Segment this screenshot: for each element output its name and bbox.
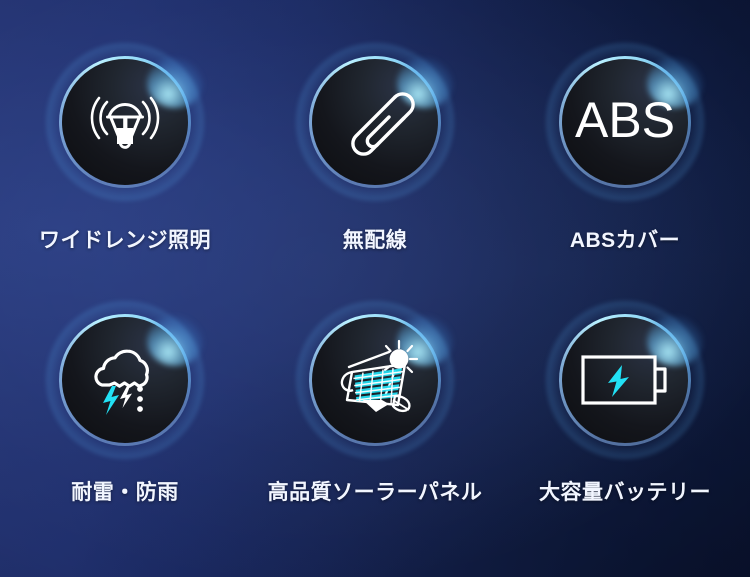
feature-badge (59, 314, 191, 446)
feature-item-large-capacity-battery: 大容量バッテリー (500, 289, 750, 577)
feature-item-lightning-rain-proof: 耐雷・防雨 (0, 289, 250, 577)
feature-item-high-quality-solar-panel: 高品質ソーラーパネル (250, 289, 500, 577)
feature-label: ワイドレンジ照明 (39, 224, 211, 254)
feature-badge (559, 314, 691, 446)
paperclip-icon (334, 81, 416, 163)
feature-badge (309, 314, 441, 446)
feature-item-abs-cover: ABS ABSカバー (500, 0, 750, 289)
feature-label: 高品質ソーラーパネル (268, 476, 483, 506)
solar-panel-sun-icon (329, 334, 421, 426)
feature-badge: ABS (559, 56, 691, 188)
feature-label: 耐雷・防雨 (71, 476, 179, 506)
feature-item-wireless: 無配線 (250, 0, 500, 289)
feature-label: 無配線 (343, 224, 408, 254)
lightbulb-radiating-icon (79, 76, 171, 168)
feature-item-wide-range-lighting: ワイドレンジ照明 (0, 0, 250, 289)
abs-text-icon: ABS (565, 87, 685, 157)
feature-label: ABSカバー (570, 224, 680, 254)
abs-label: ABS (575, 92, 675, 148)
storm-cloud-lightning-rain-icon (82, 337, 168, 423)
feature-badge (309, 56, 441, 188)
battery-bolt-icon (577, 347, 673, 413)
feature-badge (59, 56, 191, 188)
feature-grid: ワイドレンジ照明 無配線 (0, 0, 750, 577)
feature-highlight-banner: ワイドレンジ照明 無配線 (0, 0, 750, 577)
feature-label: 大容量バッテリー (539, 476, 711, 506)
